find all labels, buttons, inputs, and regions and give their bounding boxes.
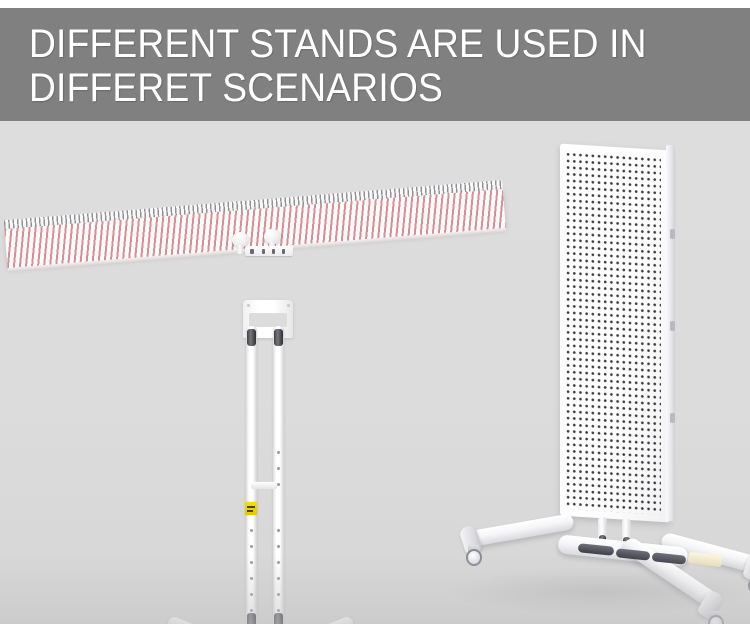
header-banner: DIFFERENT STANDS ARE USED IN DIFFERET SC… bbox=[0, 8, 750, 121]
adjust-hole bbox=[250, 561, 253, 564]
clamp-collar-upper-right bbox=[274, 329, 283, 346]
adjust-hole bbox=[277, 467, 280, 470]
adjust-hole bbox=[277, 545, 280, 548]
control-indicator-3 bbox=[272, 249, 275, 254]
adjust-hole bbox=[277, 609, 280, 612]
clamp-collar-lower-left bbox=[247, 613, 256, 624]
clamp-collar-lower-right bbox=[274, 613, 283, 624]
cross-brace bbox=[251, 482, 277, 489]
yoke-opening bbox=[249, 313, 287, 327]
adjust-hole bbox=[250, 529, 253, 532]
product-vertical-panel-stand bbox=[430, 121, 750, 624]
product-overhead-panel-stand bbox=[0, 121, 390, 624]
clamp-collar-upper-left bbox=[247, 329, 256, 346]
adjust-hole bbox=[277, 483, 280, 486]
adjust-hole bbox=[250, 593, 253, 596]
rim-notch-bottom bbox=[670, 413, 675, 423]
adjust-hole bbox=[277, 451, 280, 454]
adjust-hole bbox=[250, 545, 253, 548]
adjust-hole bbox=[277, 561, 280, 564]
base-arm-left bbox=[166, 615, 214, 624]
banner-title: DIFFERENT STANDS ARE USED IN DIFFERET SC… bbox=[29, 22, 680, 110]
warning-sticker bbox=[245, 502, 257, 515]
adjust-hole bbox=[250, 577, 253, 580]
control-indicator-4 bbox=[282, 249, 285, 254]
yoke-screw-left bbox=[247, 304, 250, 307]
led-panel-vertical bbox=[560, 144, 670, 523]
product-feature-image: DIFFERENT STANDS ARE USED IN DIFFERET SC… bbox=[0, 0, 750, 637]
rim-notch-middle bbox=[670, 321, 675, 331]
control-indicator-2 bbox=[262, 249, 265, 254]
adjust-hole bbox=[250, 609, 253, 612]
base-arm-right bbox=[308, 615, 356, 624]
caster-wheel-front bbox=[708, 615, 724, 624]
adjust-hole bbox=[277, 593, 280, 596]
control-indicator-1 bbox=[250, 249, 254, 254]
panel-side-rim bbox=[666, 145, 675, 522]
yoke-screw-right bbox=[287, 304, 290, 307]
product-stage bbox=[0, 121, 750, 624]
adjust-hole bbox=[277, 577, 280, 580]
adjust-hole bbox=[277, 529, 280, 532]
knob-stem-left bbox=[237, 245, 243, 254]
rim-notch-top bbox=[670, 229, 675, 239]
caster-wheel-rear-left bbox=[466, 549, 482, 566]
led-grid bbox=[565, 151, 661, 515]
